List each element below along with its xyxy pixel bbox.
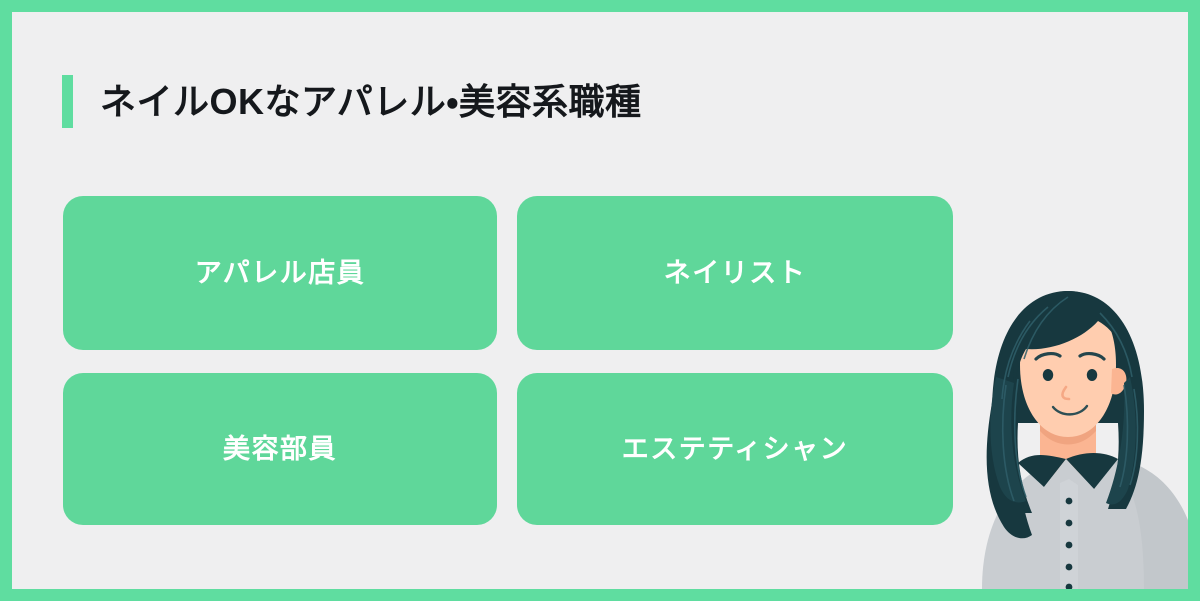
job-card-label: 美容部員 xyxy=(223,436,337,463)
job-card-label: アパレル店員 xyxy=(195,260,365,287)
job-card-apparel-staff[interactable]: アパレル店員 xyxy=(63,196,497,350)
page-heading: ネイルOKなアパレル・美容系職種 xyxy=(62,75,642,128)
content-area: ネイルOKなアパレル・美容系職種 アパレル店員 ネイリスト 美容部員 エステティ… xyxy=(12,12,1188,589)
page-frame: ネイルOKなアパレル・美容系職種 アパレル店員 ネイリスト 美容部員 エステティ… xyxy=(0,0,1200,601)
job-card-esthetician[interactable]: エステティシャン xyxy=(517,373,953,525)
job-card-nailist[interactable]: ネイリスト xyxy=(517,196,953,350)
job-category-grid: アパレル店員 ネイリスト 美容部員 エステティシャン xyxy=(63,196,953,525)
job-card-label: エステティシャン xyxy=(622,436,848,463)
page-title: ネイルOKなアパレル・美容系職種 xyxy=(100,84,642,120)
job-card-label: ネイリスト xyxy=(664,260,807,287)
woman-portrait-illustration xyxy=(948,273,1188,589)
heading-accent-bar xyxy=(62,75,73,128)
job-card-beauty-advisor[interactable]: 美容部員 xyxy=(63,373,497,525)
